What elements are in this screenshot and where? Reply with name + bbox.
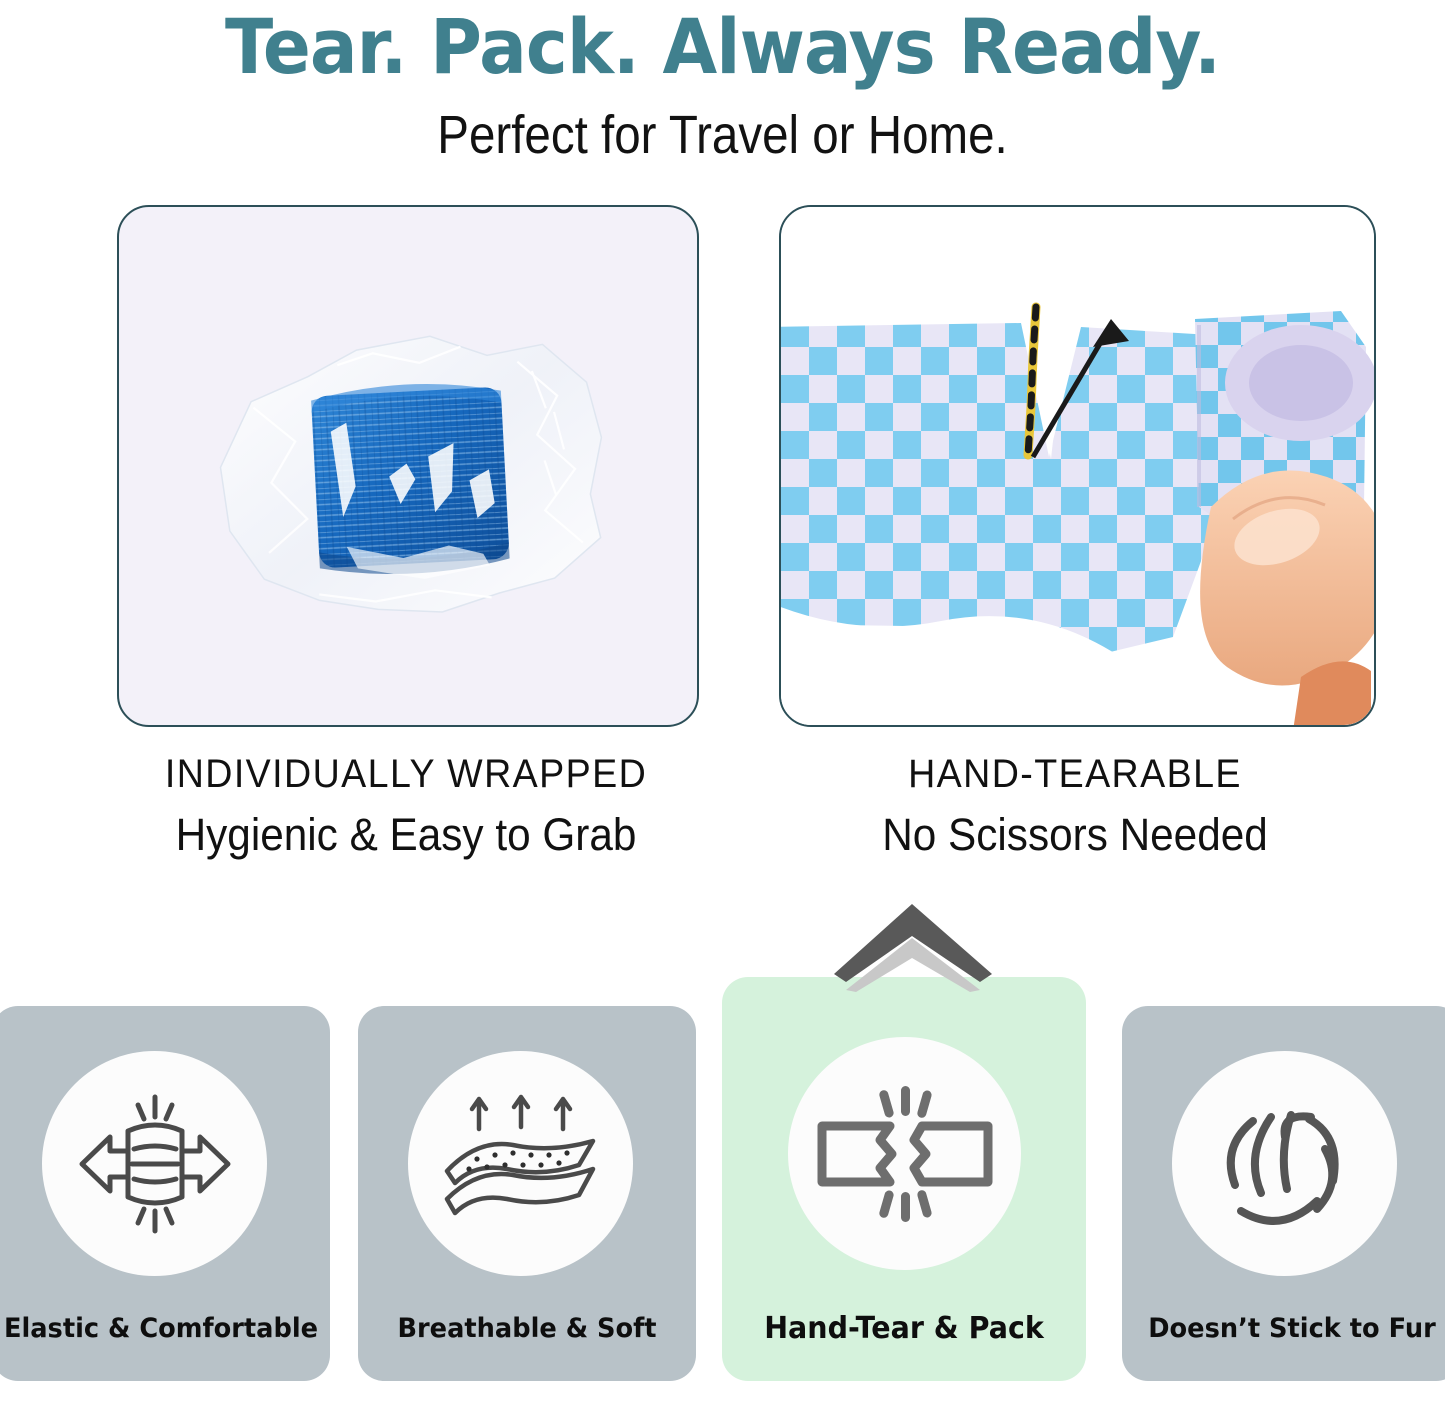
torn-bandage-icon <box>810 1074 1000 1234</box>
feature-label-elastic: Elastic & Comfortable <box>0 1313 321 1344</box>
fur-swirl-icon <box>1205 1089 1365 1239</box>
icon-circle <box>788 1037 1021 1270</box>
icon-circle <box>1172 1051 1397 1276</box>
feature-label-no-stick-fur: Doesn’t Stick to Fur <box>1131 1313 1445 1344</box>
breathable-fabric-icon <box>433 1089 609 1239</box>
feature-cards-row: Elastic & Comfortable Breatha <box>0 0 1445 1410</box>
icon-circle <box>42 1051 267 1276</box>
highlight-chevron-icons <box>830 902 995 992</box>
icon-circle <box>408 1051 633 1276</box>
stretch-arrows-icon <box>70 1089 240 1239</box>
feature-label-hand-tear: Hand-Tear & Pack <box>731 1311 1077 1346</box>
feature-label-breathable: Breathable & Soft <box>366 1313 687 1344</box>
